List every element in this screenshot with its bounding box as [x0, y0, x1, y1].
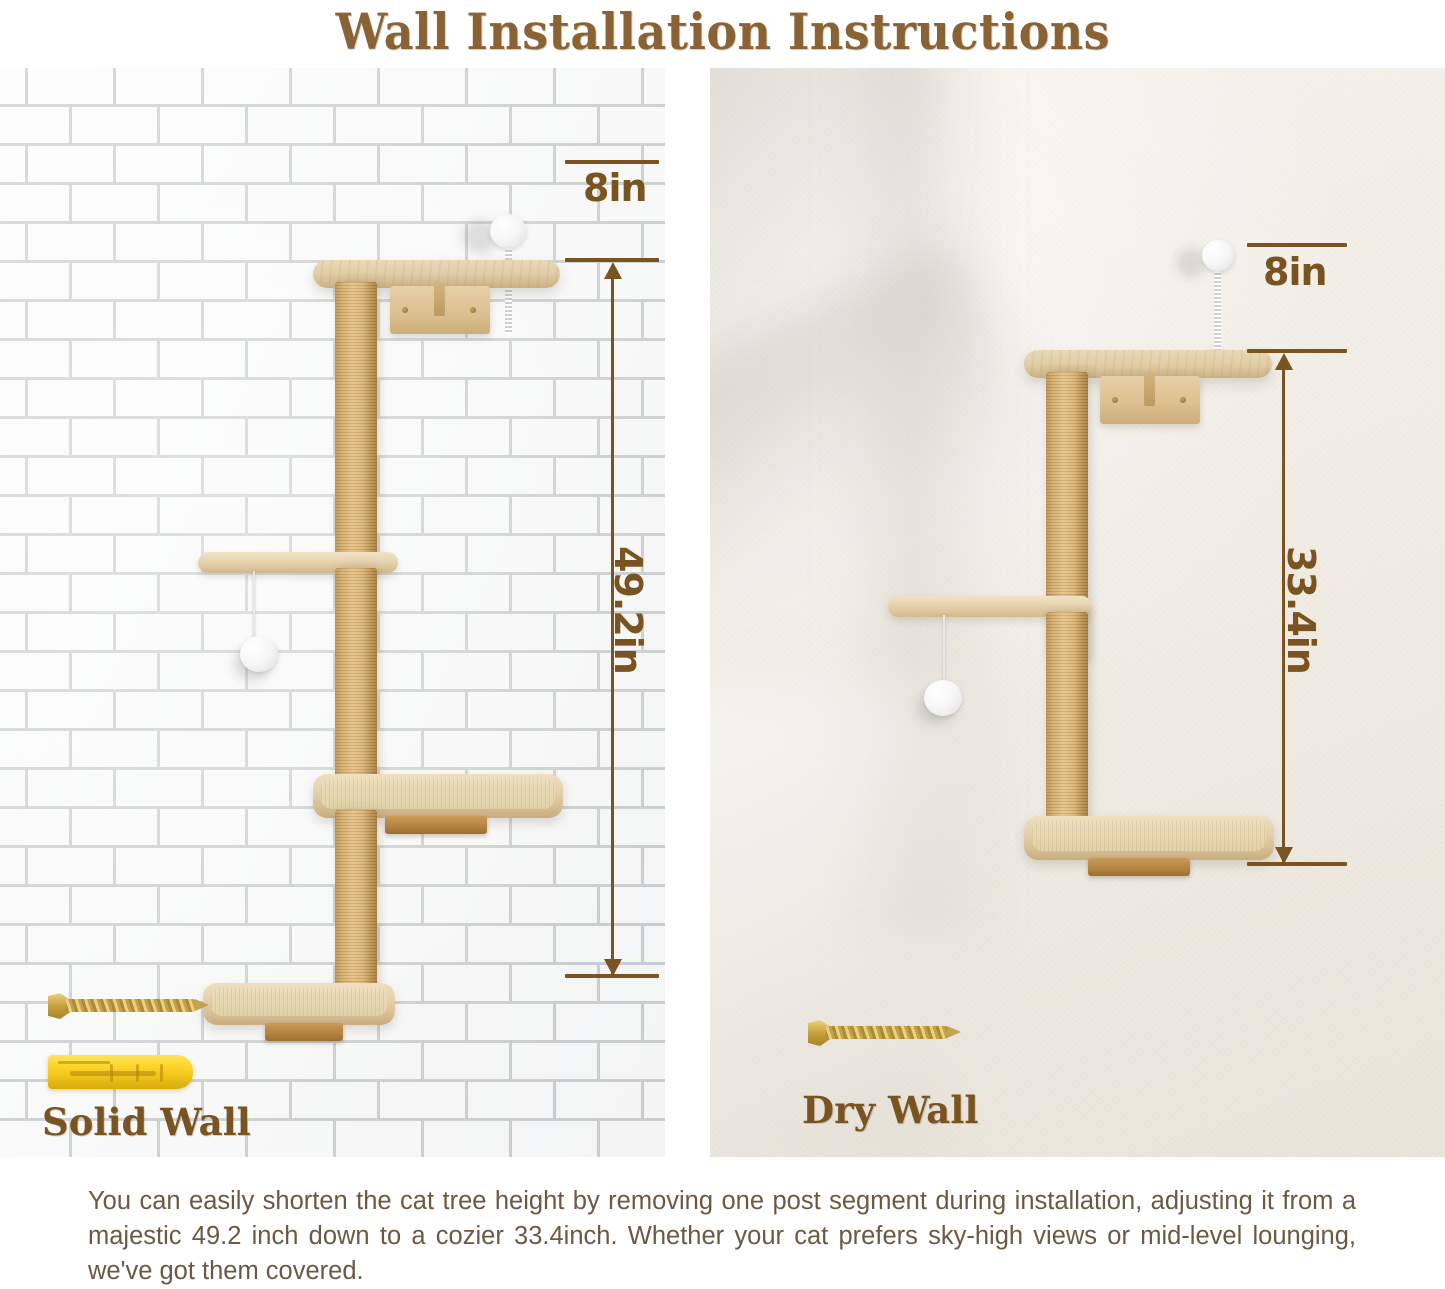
- tile-row: [0, 380, 665, 419]
- anchor-ridge: [160, 1064, 163, 1082]
- tile-row: [0, 614, 665, 653]
- platform-pad: [321, 778, 555, 809]
- screw-hole-icon: [1112, 397, 1118, 403]
- page-header: Wall Installation Instructions: [0, 0, 1445, 62]
- panel-solid-wall: 8in 49.2in Solid Wall: [0, 68, 665, 1157]
- instruction-panels: 8in 49.2in Solid Wall: [0, 62, 1445, 1162]
- tile-row: [0, 302, 665, 341]
- dim-label-8in-right: 8in: [1263, 250, 1327, 294]
- platform-pad: [1032, 820, 1266, 851]
- tile-row: [0, 887, 665, 926]
- tile-row: [0, 107, 665, 146]
- screw-shank: [826, 1026, 948, 1039]
- tile-row: [0, 848, 665, 887]
- toy-string-left: [253, 571, 255, 639]
- screw-tip: [947, 1026, 961, 1038]
- bottom-platform-right: [1024, 816, 1274, 860]
- sisal-post-lower-left: [335, 810, 377, 1006]
- tile-row: [0, 497, 665, 536]
- anchor-slot: [70, 1071, 156, 1076]
- anchor-ridge: [136, 1064, 139, 1082]
- tile-row: [0, 692, 665, 731]
- tile-row: [0, 653, 665, 692]
- wall-highlight: [710, 688, 950, 1157]
- hanging-pom-pom-left: [240, 636, 278, 672]
- screw-hole-icon: [470, 307, 476, 313]
- mount-tab: [1144, 372, 1155, 406]
- wall-mount-plate-right: [1100, 376, 1200, 424]
- screw-shank: [66, 999, 196, 1012]
- wall-mount-plate-left: [390, 286, 490, 334]
- tile-row: [0, 575, 665, 614]
- dim-label-33in-right: 33.4in: [1279, 546, 1323, 674]
- pom-pom-ball-right: [1202, 240, 1234, 271]
- footer-paragraph: You can easily shorten the cat tree heig…: [88, 1184, 1356, 1289]
- dim-label-8in-left: 8in: [583, 166, 647, 210]
- platform-bracket-bottom-left: [265, 1023, 343, 1041]
- tile-row: [0, 731, 665, 770]
- dim-tick-bottom-left: [565, 974, 659, 978]
- anchor-ridge: [110, 1064, 113, 1082]
- tile-row: [0, 419, 665, 458]
- screw-hole-icon: [402, 307, 408, 313]
- toy-string-right: [943, 615, 945, 685]
- tile-row: [0, 926, 665, 965]
- platform-pad: [211, 987, 387, 1016]
- caption-dry-wall: Dry Wall: [802, 1088, 978, 1132]
- dim-tick-bottom-right: [1247, 862, 1347, 866]
- sisal-post-upper-left: [335, 282, 377, 572]
- tile-row: [0, 68, 665, 107]
- sisal-post-mid-left: [335, 568, 377, 790]
- toy-spring-right: [1214, 263, 1221, 356]
- tile-row: [0, 146, 665, 185]
- sisal-post-lower-right: [1046, 612, 1088, 834]
- dim-tick-top: [565, 160, 659, 164]
- platform-bracket-left: [385, 816, 487, 834]
- platform-bracket-right: [1088, 858, 1190, 876]
- pom-pom-ball-left: [490, 214, 526, 248]
- bottom-platform-left: [203, 983, 395, 1025]
- screw-tip: [195, 999, 209, 1011]
- screw-hole-icon: [1180, 397, 1186, 403]
- footer-note: You can easily shorten the cat tree heig…: [0, 1168, 1445, 1287]
- panel-dry-wall: 8in 33.4in Dry Wall: [710, 68, 1445, 1157]
- wall-anchor-icon: [48, 1055, 193, 1089]
- tile-row: [0, 458, 665, 497]
- dim-tick-8in-bottom-right: [1247, 349, 1347, 353]
- hanging-pom-pom-right: [924, 680, 962, 716]
- caption-solid-wall: Solid Wall: [42, 1100, 251, 1144]
- dim-label-49in-left: 49.2in: [606, 546, 650, 674]
- mount-tab: [434, 282, 445, 316]
- page-title: Wall Installation Instructions: [335, 2, 1109, 61]
- anchor-ridge: [58, 1061, 110, 1064]
- tile-row: [0, 185, 665, 224]
- tile-row: [0, 341, 665, 380]
- dim-tick-top-right: [1247, 243, 1347, 247]
